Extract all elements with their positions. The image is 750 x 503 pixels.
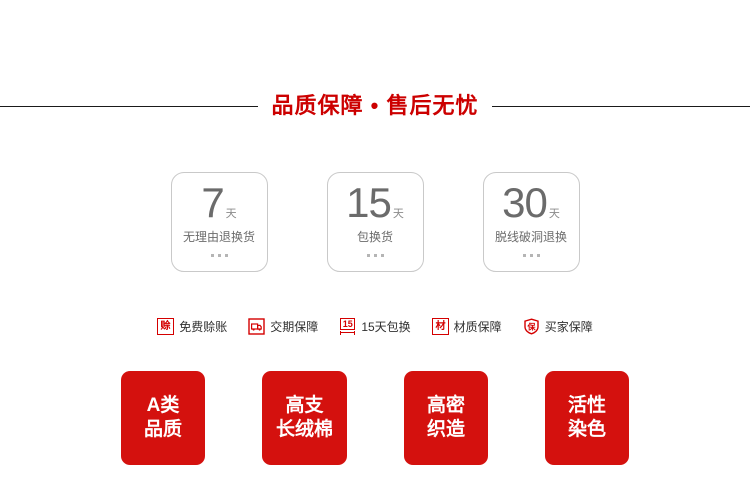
header-rule-right bbox=[492, 106, 750, 107]
service-item-delivery-guarantee: 交期保障 bbox=[248, 318, 318, 335]
service-icon-list: 赊 免费赊账 交期保障 15 15天包换 材 材质保障 bbox=[0, 314, 750, 338]
shield-bao-icon: 保 bbox=[523, 318, 540, 335]
feature-box: 高密 织造 bbox=[404, 371, 488, 465]
cai-character-icon: 材 bbox=[432, 318, 449, 335]
guarantee-card-number-row: 30 天 bbox=[502, 179, 560, 223]
guarantee-card-number: 30 bbox=[502, 183, 547, 223]
guarantee-card-description: 包换货 bbox=[357, 228, 393, 245]
ellipsis-icon bbox=[523, 254, 540, 257]
page-title: 品质保障 • 售后无忧 bbox=[258, 95, 493, 117]
guarantee-card-unit: 天 bbox=[549, 209, 560, 220]
feature-box-line2: 长绒棉 bbox=[276, 418, 333, 442]
delivery-truck-icon bbox=[248, 318, 265, 335]
guarantee-card-number-row: 7 天 bbox=[201, 179, 236, 223]
feature-box-line1: 活性 bbox=[568, 394, 606, 418]
guarantee-card-list: 7 天 无理由退换货 15 天 包换货 30 天 脱线破洞退换 bbox=[0, 172, 750, 276]
ellipsis-icon bbox=[211, 254, 228, 257]
feature-box-line1: 高支 bbox=[285, 394, 323, 418]
ellipsis-icon bbox=[367, 254, 384, 257]
feature-box: 高支 长绒棉 bbox=[262, 371, 347, 465]
section-header: 品质保障 • 售后无忧 bbox=[0, 88, 750, 124]
feature-box-line1: 高密 bbox=[427, 394, 465, 418]
guarantee-card-number: 7 bbox=[201, 183, 223, 223]
guarantee-card-number-row: 15 天 bbox=[346, 179, 404, 223]
guarantee-card-description: 脱线破洞退换 bbox=[495, 228, 567, 245]
guarantee-card-unit: 天 bbox=[393, 209, 404, 220]
she-character-icon: 赊 bbox=[157, 318, 174, 335]
service-item-15day-exchange: 15 15天包换 bbox=[339, 318, 410, 335]
guarantee-card: 15 天 包换货 bbox=[327, 172, 424, 272]
guarantee-card-unit: 天 bbox=[226, 209, 237, 220]
service-item-buyer-guarantee: 保 买家保障 bbox=[523, 318, 593, 335]
feature-box-line2: 染色 bbox=[568, 418, 606, 442]
service-item-label: 15天包换 bbox=[361, 318, 410, 335]
service-item-label: 买家保障 bbox=[545, 318, 593, 335]
guarantee-card: 30 天 脱线破洞退换 bbox=[483, 172, 580, 272]
svg-text:保: 保 bbox=[526, 321, 536, 331]
guarantee-card-number: 15 bbox=[346, 183, 391, 223]
feature-box-line1: A类 bbox=[147, 394, 180, 418]
guarantee-card: 7 天 无理由退换货 bbox=[171, 172, 268, 272]
service-item-label: 免费赊账 bbox=[179, 318, 227, 335]
feature-box-line2: 品质 bbox=[144, 418, 182, 442]
feature-box-line2: 织造 bbox=[427, 418, 465, 442]
service-item-free-credit: 赊 免费赊账 bbox=[157, 318, 227, 335]
header-rule-left bbox=[0, 106, 258, 107]
feature-box-list: A类 品质 高支 长绒棉 高密 织造 活性 染色 bbox=[0, 371, 750, 465]
service-item-label: 材质保障 bbox=[454, 318, 502, 335]
feature-box: 活性 染色 bbox=[545, 371, 629, 465]
guarantee-card-description: 无理由退换货 bbox=[183, 228, 255, 245]
fifteen-day-icon: 15 bbox=[339, 318, 356, 335]
feature-box: A类 品质 bbox=[121, 371, 205, 465]
service-item-label: 交期保障 bbox=[270, 318, 318, 335]
service-item-material-guarantee: 材 材质保障 bbox=[432, 318, 502, 335]
